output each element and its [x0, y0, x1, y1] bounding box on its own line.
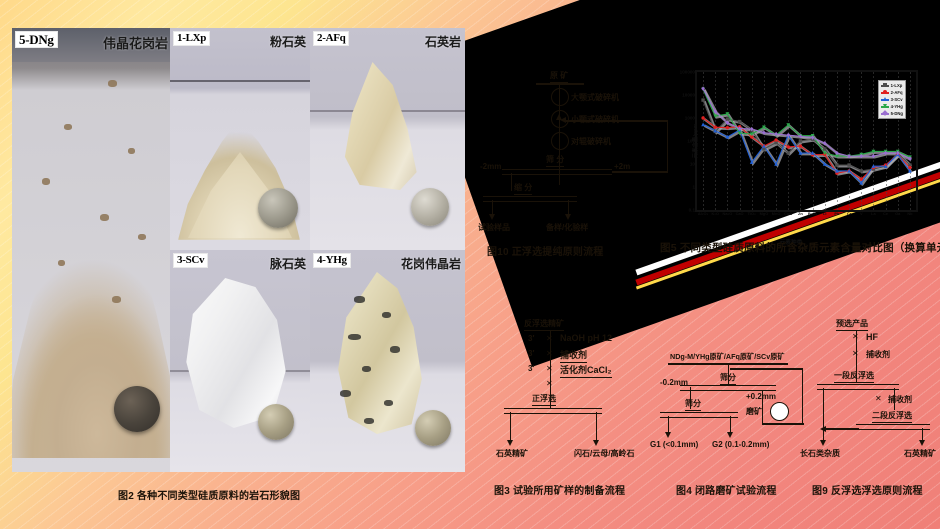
flow-grind-split: 筛分	[685, 398, 701, 411]
chart-marker	[750, 160, 754, 164]
legend-swatch	[881, 85, 889, 87]
chart-ytick: 10	[690, 162, 695, 167]
coin-scale	[415, 410, 451, 446]
flow-rev-output-1: 长石类杂质	[800, 448, 840, 459]
flow-prep-reagent-3: 活化剂CaCl₂	[560, 363, 612, 378]
legend-swatch	[881, 113, 889, 115]
chart-marker	[726, 126, 729, 129]
chart-marker	[799, 144, 802, 147]
photo-name-label: 石英岩	[425, 33, 461, 50]
legend-label: 5-DNg	[891, 111, 903, 116]
rock-photo-grid: 1-LXp 粉石英 2-AFq 石英岩 5-DNg 伟晶花岗岩	[12, 28, 465, 472]
chart-xtick: CaO	[736, 211, 744, 216]
chart-marker	[908, 156, 912, 160]
flow-crush-screen: 筛 分	[546, 154, 564, 167]
chart-marker	[701, 98, 704, 101]
chart-xtick: CuO	[784, 211, 792, 216]
chart-marker	[786, 123, 790, 127]
slide-canvas: 1-LXp 粉石英 2-AFq 石英岩 5-DNg 伟晶花岗岩	[0, 0, 940, 529]
flow-prep-output-2: 闪石/云母/高岭石	[574, 448, 634, 459]
chart-xtick: MgO	[760, 211, 769, 216]
chart-marker	[811, 151, 815, 155]
chart-marker	[884, 151, 888, 155]
flow-crush-output-2: 备样/化验样	[546, 222, 588, 233]
flow-prep-time-2: 3′	[528, 349, 534, 358]
coin-scale	[411, 188, 449, 226]
chart-marker	[860, 169, 863, 172]
chart-marker	[713, 109, 717, 113]
flowchart-reverse-flotation: 预选产品 ✕ HF ✕ 捕收剂 一段反浮选 长石类杂质 ✕ 捕收剂 二段反浮选 …	[812, 318, 940, 468]
chart-xtick: Al₂O₃	[698, 211, 708, 216]
flow-crush-undersize: -2mm	[480, 162, 501, 171]
flow-prep-time-3: 3′	[528, 364, 534, 373]
chart-xtick: Pb	[834, 211, 839, 216]
coin-scale	[114, 386, 160, 432]
chart-marker	[762, 130, 766, 134]
chart-marker	[823, 162, 827, 166]
photo-4-yhg: 4-YHg 花岗伟晶岩	[310, 250, 465, 472]
flow-rev-caption: 图9 反浮选浮选原则流程	[812, 482, 923, 497]
chart-marker	[701, 122, 705, 126]
photo-tag: 3-SCv	[173, 253, 208, 268]
flow-rev-output-2: 石英精矿	[904, 448, 936, 459]
photo-tag: 2-AFq	[313, 31, 349, 46]
legend-label: 3-SCv	[891, 97, 903, 102]
flow-rev-head: 预选产品	[836, 318, 868, 331]
photo-name-label: 伟晶花岗岩	[103, 33, 168, 52]
flow-grind-mill: 磨矿	[746, 406, 762, 417]
chart-ytick: 100	[687, 139, 695, 144]
flow-prep-operation: 正浮选	[532, 393, 556, 406]
chart-ytick: 0.1	[689, 208, 695, 213]
chart-xtick: MnO	[772, 211, 781, 216]
chart-marker	[774, 138, 777, 141]
chart-marker	[799, 151, 803, 155]
flow-prep-head: 反浮选精矿	[524, 318, 564, 331]
chart-xtick: Cr	[847, 211, 851, 216]
chart-xtick: Na₂O	[723, 211, 733, 216]
chart-marker	[799, 139, 802, 142]
chart-xtick: P₂O₅	[808, 211, 817, 216]
chart-plot-area: 元素含量/ppm 0.1110100100010000100000 Al₂O₃K…	[695, 70, 918, 212]
chart-legend-item: 3-SCv	[881, 96, 903, 103]
chart-marker	[908, 166, 911, 169]
chart-marker	[860, 177, 863, 180]
chart-marker	[701, 116, 704, 119]
legend-swatch	[881, 106, 889, 108]
flow-prep-reagent-1: NaOH pH 12	[560, 333, 612, 343]
flow-crush-caption: 图10 正浮选提纯原则流程	[487, 243, 604, 258]
legend-label: 2-AFq	[891, 90, 903, 95]
chart-marker	[872, 154, 876, 158]
chart-marker	[787, 151, 790, 154]
crusher-node-3	[551, 132, 569, 150]
chart-marker	[750, 132, 754, 136]
flow-prep-reagent-2: 捕收剂	[560, 348, 587, 363]
legend-swatch	[881, 99, 889, 101]
chart-marker	[823, 141, 827, 145]
chart-marker	[726, 117, 729, 120]
chart-xtick: La	[871, 211, 876, 216]
flow-crush-split: 缩 分	[514, 182, 532, 195]
crusher-node-1	[551, 88, 569, 106]
mill-node	[770, 402, 789, 421]
flow-rev-reagent-mid: 捕收剂	[888, 394, 912, 405]
chart-xtick: Ga	[895, 211, 900, 216]
chart-marker	[774, 162, 778, 166]
chart-marker	[726, 121, 730, 125]
photo-2-afq: 2-AFq 石英岩	[310, 28, 465, 250]
flow-rev-stage-1: 一段反浮选	[834, 370, 874, 383]
chart-legend-item: 1-LXp	[881, 82, 903, 89]
chart-xtick: Zn	[798, 211, 803, 216]
flow-grind-caption: 图4 闭路磨矿试验流程	[676, 482, 777, 497]
chart-ytick: 1000	[685, 116, 695, 121]
chart-ytick: 100000	[680, 70, 695, 75]
coin-scale	[258, 188, 298, 228]
chart-marker	[738, 131, 742, 135]
flow-crush-oversize: +2m	[614, 162, 630, 171]
flow-grind-output-2: G2 (0.1-0.2mm)	[712, 440, 769, 449]
photo-3-scv: 3-SCv 脉石英	[170, 250, 310, 472]
legend-label: 4-YHg	[891, 104, 903, 109]
photo-1-lxp: 1-LXp 粉石英	[170, 28, 310, 250]
flow-grind-screen: 筛分	[720, 372, 736, 385]
photo-tag: 4-YHg	[313, 253, 351, 268]
chart-xtick: V	[860, 211, 863, 216]
chart-xtick: K₂O	[711, 211, 719, 216]
flow-prep-caption: 图3 试验所用矿样的制备流程	[494, 482, 625, 497]
legend-swatch	[881, 92, 889, 94]
chart-marker	[701, 86, 705, 90]
chart-legend: 1-LXp2-AFq3-SCv4-YHg5-DNg	[878, 80, 906, 119]
chart-marker	[823, 147, 826, 150]
flow-grind-undersize: -0.2mm	[660, 378, 688, 387]
chart-ytick: 1	[692, 185, 695, 190]
chart-marker	[847, 163, 850, 166]
chart-marker	[872, 164, 876, 168]
chart-marker	[762, 125, 766, 129]
flow-grind-output-1: G1 (<0.1mm)	[650, 440, 698, 449]
flow-rev-reagent-2: 捕收剂	[866, 349, 890, 360]
chart-marker	[714, 125, 717, 128]
chart-marker	[835, 169, 839, 173]
photo-grid-caption: 图2 各种不同类型硅质原料的岩石形貌图	[118, 487, 300, 502]
photo-name-label: 粉石英	[270, 33, 306, 50]
photo-5-dng: 5-DNg 伟晶花岗岩	[12, 28, 170, 472]
chart-marker	[726, 135, 730, 139]
chart-marker	[738, 120, 741, 123]
chart-xtick: Ce	[883, 211, 888, 216]
flow-crush-head: 原 矿	[550, 70, 568, 83]
chart-xtick: Li	[823, 211, 826, 216]
legend-label: 1-LXp	[891, 83, 903, 88]
chart-marker	[726, 112, 730, 116]
chart-marker	[872, 150, 876, 154]
chart-marker	[908, 169, 912, 173]
chart-legend-item: 5-DNg	[881, 110, 903, 117]
chart-marker	[787, 145, 790, 148]
coin-scale	[258, 404, 294, 440]
flowchart-crushing: 原 矿 大颚式破碎机 小颚式破碎机 对辊破碎机 筛 分 -2mm +2m 缩 分…	[480, 70, 670, 240]
photo-tag: 1-LXp	[173, 31, 210, 46]
chart-ytick: 10000	[682, 93, 695, 98]
chart-caption: 图5 不同类型硅质原料的所含杂质元素含量对比图（换算单元素含	[660, 240, 940, 255]
photo-name-label: 花岗伟晶岩	[401, 255, 461, 272]
impurity-element-chart: 元素含量/ppm 0.1110100100010000100000 Al₂O₃K…	[660, 66, 922, 236]
chart-xtick: Nb	[907, 211, 912, 216]
chart-marker	[713, 114, 717, 118]
photo-name-label: 脉石英	[270, 255, 306, 272]
flow-crush-step-1: 大颚式破碎机	[571, 92, 619, 103]
chart-marker	[859, 154, 863, 158]
chart-marker	[774, 132, 778, 136]
chart-legend-item: 4-YHg	[881, 103, 903, 110]
flow-crush-step-3: 对辊破碎机	[571, 136, 611, 147]
chart-xtick: TiO₂	[748, 211, 756, 216]
chart-marker	[859, 181, 863, 185]
chart-legend-item: 2-AFq	[881, 89, 903, 96]
flow-crush-output-1: 试验样品	[478, 222, 510, 233]
flowchart-sample-prep: 反浮选精矿 3′ ✕ NaOH pH 12 3′ ✕ 捕收剂 3′ ✕ 活化剂C…	[498, 318, 668, 468]
photo-tag: 5-DNg	[15, 31, 58, 48]
flow-rev-reagent-1: HF	[866, 332, 878, 342]
flow-prep-output-1: 石英精矿	[496, 448, 528, 459]
flow-rev-stage-2: 二段反浮选	[872, 410, 912, 423]
chart-marker	[835, 163, 838, 166]
flow-prep-time-1: 3′	[528, 334, 534, 343]
